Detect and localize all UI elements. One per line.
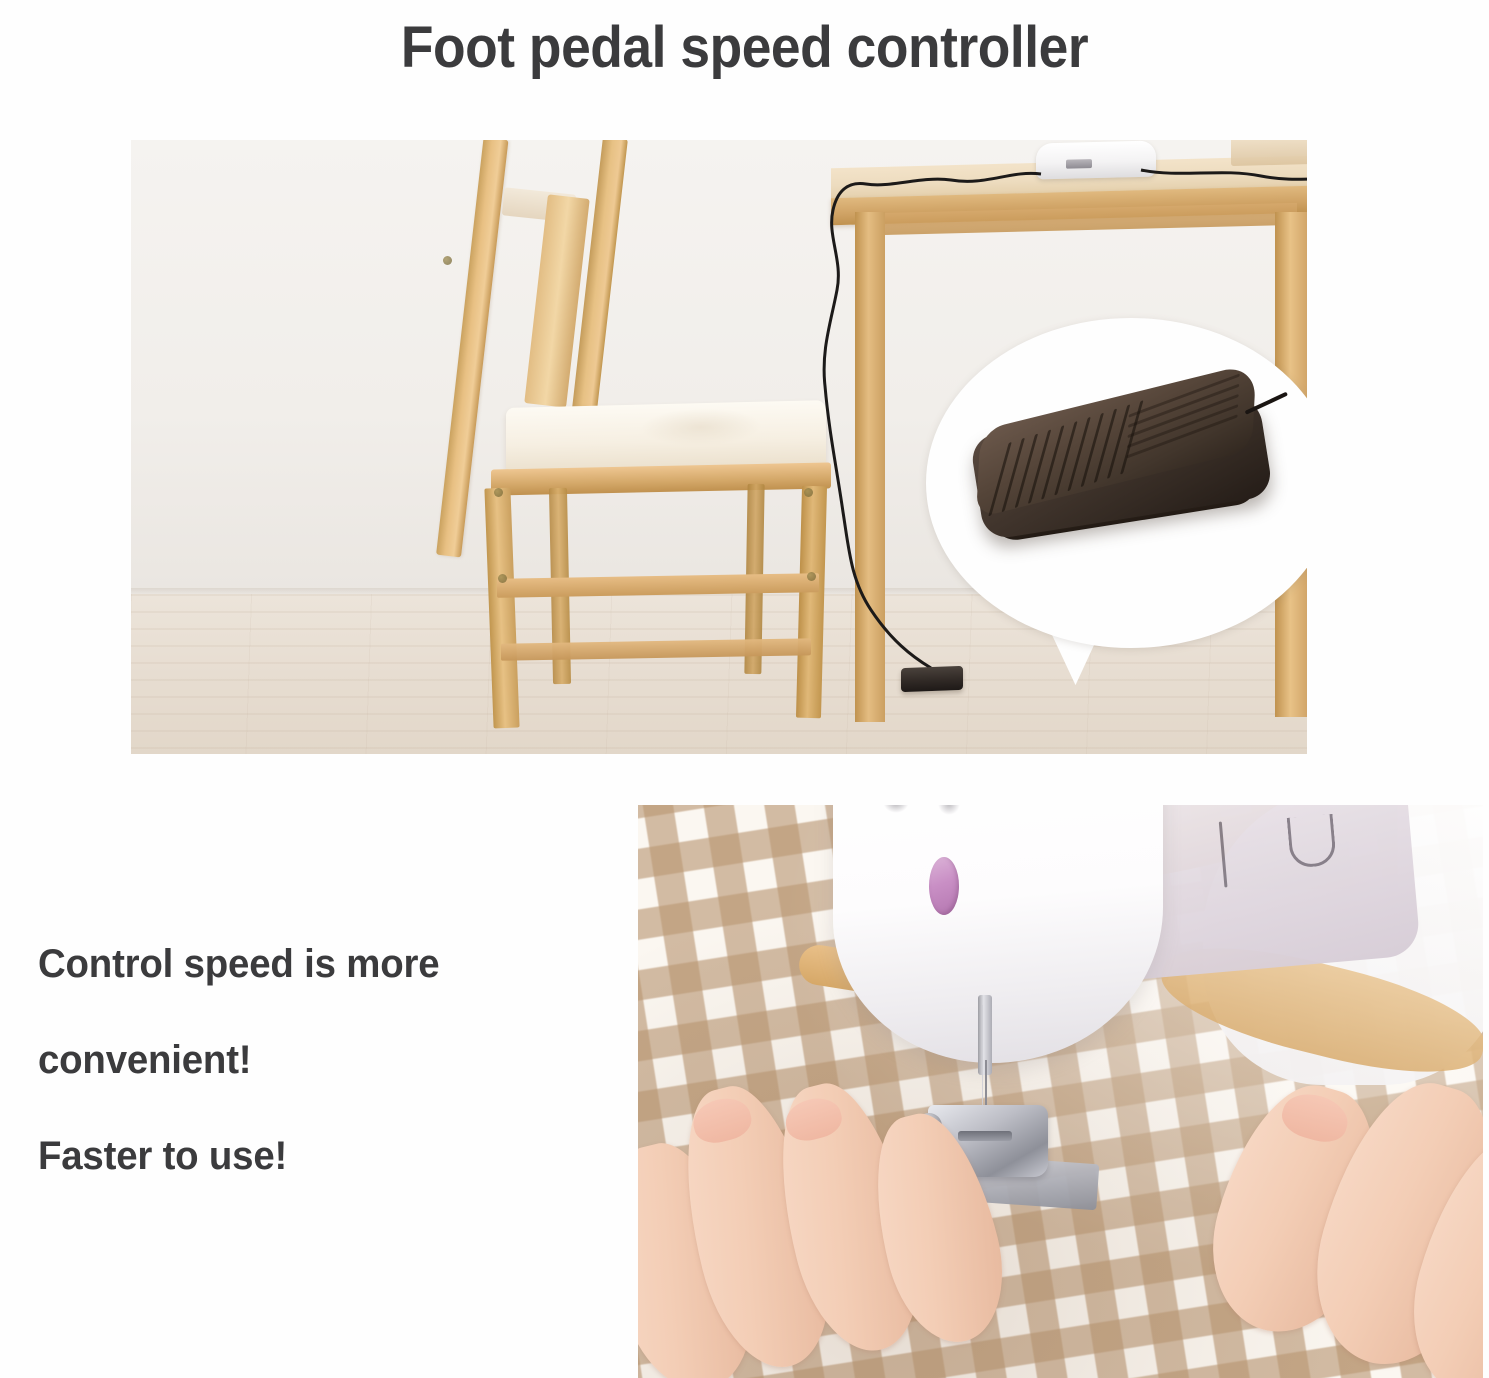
pedal-curved-ridges <box>1126 374 1248 457</box>
chair-stretcher-lower <box>501 638 811 660</box>
arm-marking-hook <box>1287 814 1337 869</box>
head-decal-right <box>938 805 960 815</box>
pink-knob <box>929 857 959 915</box>
foot-pedal-on-floor <box>901 666 963 692</box>
table-object-right <box>1231 140 1307 166</box>
fingernail <box>781 1093 845 1145</box>
bottom-product-photo <box>638 805 1483 1378</box>
chair-stretcher-upper <box>497 573 819 598</box>
promo-page: Foot pedal speed controller <box>0 0 1489 1378</box>
head-decal-left <box>883 805 909 813</box>
chair-screw <box>443 256 452 265</box>
copy-line-2: convenient! <box>38 1040 595 1080</box>
machine-panel <box>1066 159 1092 169</box>
chair-screw <box>807 572 816 581</box>
copy-line-3: Faster to use! <box>38 1136 595 1176</box>
copy-line-1: Control speed is more <box>38 944 595 984</box>
chair-leg-front-left <box>484 488 519 729</box>
white-sewing-machine <box>1036 141 1156 180</box>
pedal-closeup-callout <box>926 318 1307 648</box>
chair-screw <box>494 488 503 497</box>
top-product-photo <box>131 140 1307 754</box>
chair-screw <box>498 574 507 583</box>
page-title: Foot pedal speed controller <box>60 14 1430 81</box>
arm-marking-line <box>1219 822 1228 888</box>
chair-screw <box>804 488 813 497</box>
fingernail <box>689 1093 755 1148</box>
fingernail <box>1277 1087 1353 1147</box>
marketing-copy: Control speed is more convenient! Faster… <box>38 944 618 1176</box>
table-leg-left <box>855 212 885 722</box>
wooden-chair <box>251 140 811 746</box>
